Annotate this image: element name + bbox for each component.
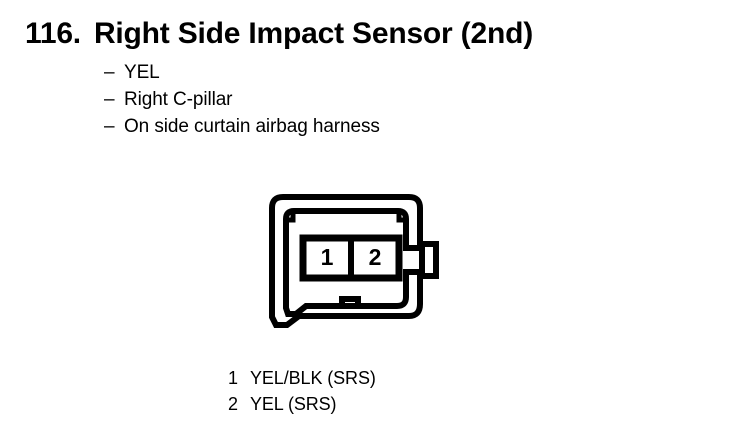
diagram-page: 116. Right Side Impact Sensor (2nd) – YE… — [0, 0, 736, 444]
list-item-label: On side curtain airbag harness — [124, 116, 380, 138]
list-item-label: YEL — [124, 62, 160, 84]
list-item-label: Right C-pillar — [124, 89, 232, 111]
cavity-number-2: 2 — [369, 244, 382, 270]
dash-icon: – — [104, 89, 124, 111]
legend-pin-number: 2 — [228, 394, 250, 415]
legend-row: 1 YEL/BLK (SRS) — [228, 368, 376, 394]
page-title: 116. Right Side Impact Sensor (2nd) — [25, 17, 533, 51]
list-item: – On side curtain airbag harness — [104, 116, 380, 143]
title-text: Right Side Impact Sensor (2nd) — [94, 17, 533, 51]
legend-row: 2 YEL (SRS) — [228, 394, 376, 420]
detail-list: – YEL – Right C-pillar – On side curtain… — [104, 62, 380, 143]
list-item: – Right C-pillar — [104, 89, 380, 116]
dash-icon: – — [104, 62, 124, 84]
item-number: 116. — [25, 17, 81, 51]
legend-wire-label: YEL/BLK (SRS) — [250, 368, 376, 389]
pin-legend: 1 YEL/BLK (SRS) 2 YEL (SRS) — [228, 368, 376, 420]
dash-icon: – — [104, 116, 124, 138]
list-item: – YEL — [104, 62, 380, 89]
cavity-number-1: 1 — [321, 244, 334, 270]
legend-pin-number: 1 — [228, 368, 250, 389]
connector-diagram: 1 2 — [246, 186, 456, 334]
legend-wire-label: YEL (SRS) — [250, 394, 336, 415]
connector-svg: 1 2 — [246, 186, 456, 334]
